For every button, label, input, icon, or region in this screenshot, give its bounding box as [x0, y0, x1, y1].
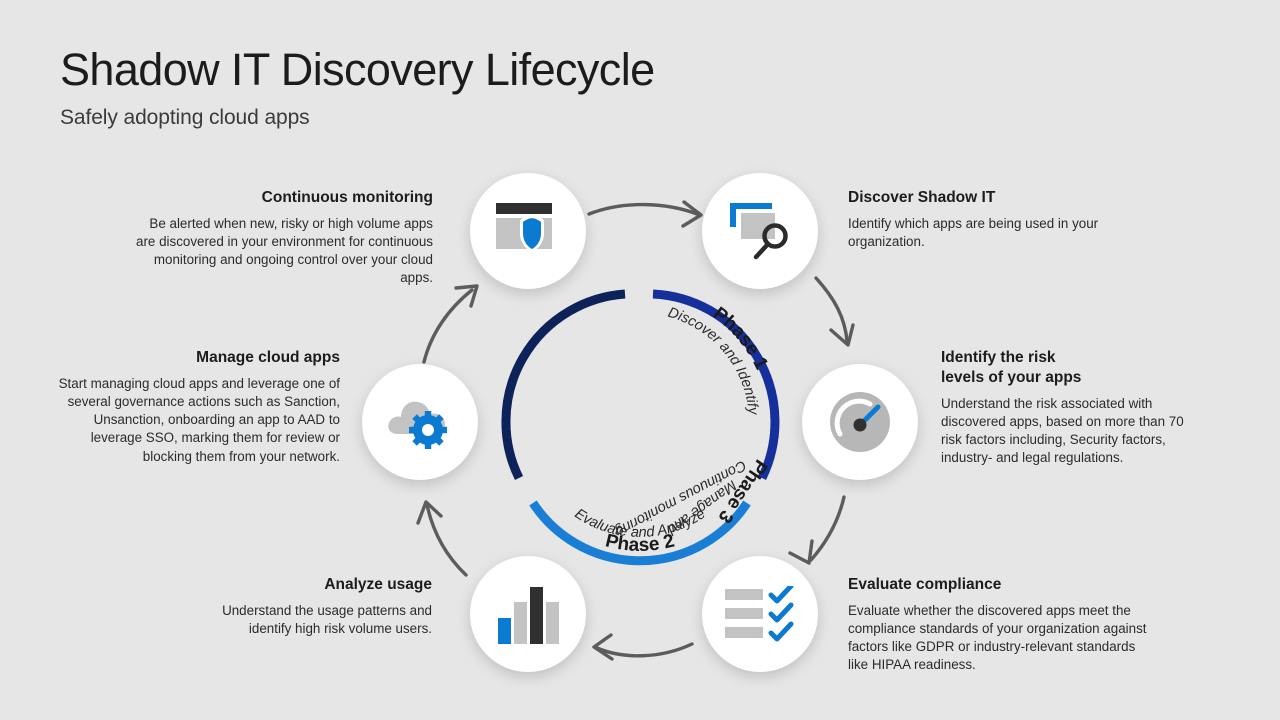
body-analyze-usage: Understand the usage patterns and identi…: [209, 602, 432, 638]
heading-continuous-monitoring: Continuous monitoring: [133, 188, 433, 208]
node-identify-risk-levels[interactable]: [802, 364, 918, 480]
arrow-comply-to-analyze: [594, 635, 692, 659]
text-block-discover-shadow-it: Discover Shadow IT Identify which apps a…: [848, 188, 1118, 251]
arrow-discover-to-risk: [816, 278, 853, 345]
arrow-manage-to-monitor: [424, 286, 477, 362]
node-manage-cloud-apps[interactable]: [362, 364, 478, 480]
arrow-monitor-to-discover: [589, 202, 701, 226]
node-discover-shadow-it[interactable]: [702, 173, 818, 289]
body-discover-shadow-it: Identify which apps are being used in yo…: [848, 215, 1118, 251]
node-evaluate-compliance[interactable]: [702, 556, 818, 672]
heading-risk-line1: Identify the risk: [941, 349, 1056, 366]
text-block-manage-cloud-apps: Manage cloud apps Start managing cloud a…: [57, 348, 340, 466]
arrow-analyze-to-manage: [418, 502, 466, 575]
browser-shield-icon: [492, 199, 564, 263]
heading-manage-cloud-apps: Manage cloud apps: [57, 348, 340, 368]
heading-evaluate-compliance: Evaluate compliance: [848, 575, 1148, 595]
gauge-icon: [828, 390, 892, 454]
body-manage-cloud-apps: Start managing cloud apps and leverage o…: [57, 375, 340, 466]
heading-risk-line2: levels of your apps: [941, 369, 1081, 386]
window-search-icon: [724, 197, 796, 265]
body-continuous-monitoring: Be alerted when new, risky or high volum…: [133, 215, 433, 288]
text-block-analyze-usage: Analyze usage Understand the usage patte…: [209, 575, 432, 638]
phase-3-arc: [506, 294, 625, 478]
node-analyze-usage[interactable]: [470, 556, 586, 672]
body-identify-risk-levels: Understand the risk associated with disc…: [941, 395, 1193, 468]
arrow-risk-to-comply: [790, 497, 844, 563]
checklist-icon: [725, 586, 795, 642]
cloud-gear-icon: [384, 392, 456, 452]
node-continuous-monitoring[interactable]: [470, 173, 586, 289]
heading-discover-shadow-it: Discover Shadow IT: [848, 188, 1118, 208]
heading-analyze-usage: Analyze usage: [209, 575, 432, 595]
body-evaluate-compliance: Evaluate whether the discovered apps mee…: [848, 602, 1148, 675]
text-block-evaluate-compliance: Evaluate compliance Evaluate whether the…: [848, 575, 1148, 675]
text-block-continuous-monitoring: Continuous monitoring Be alerted when ne…: [133, 188, 433, 288]
heading-identify-risk-levels: Identify the risk levels of your apps: [941, 348, 1193, 388]
bar-chart-icon: [496, 584, 560, 644]
slide-canvas: Shadow IT Discovery Lifecycle Safely ado…: [0, 0, 1280, 720]
text-block-identify-risk-levels: Identify the risk levels of your apps Un…: [941, 348, 1193, 468]
